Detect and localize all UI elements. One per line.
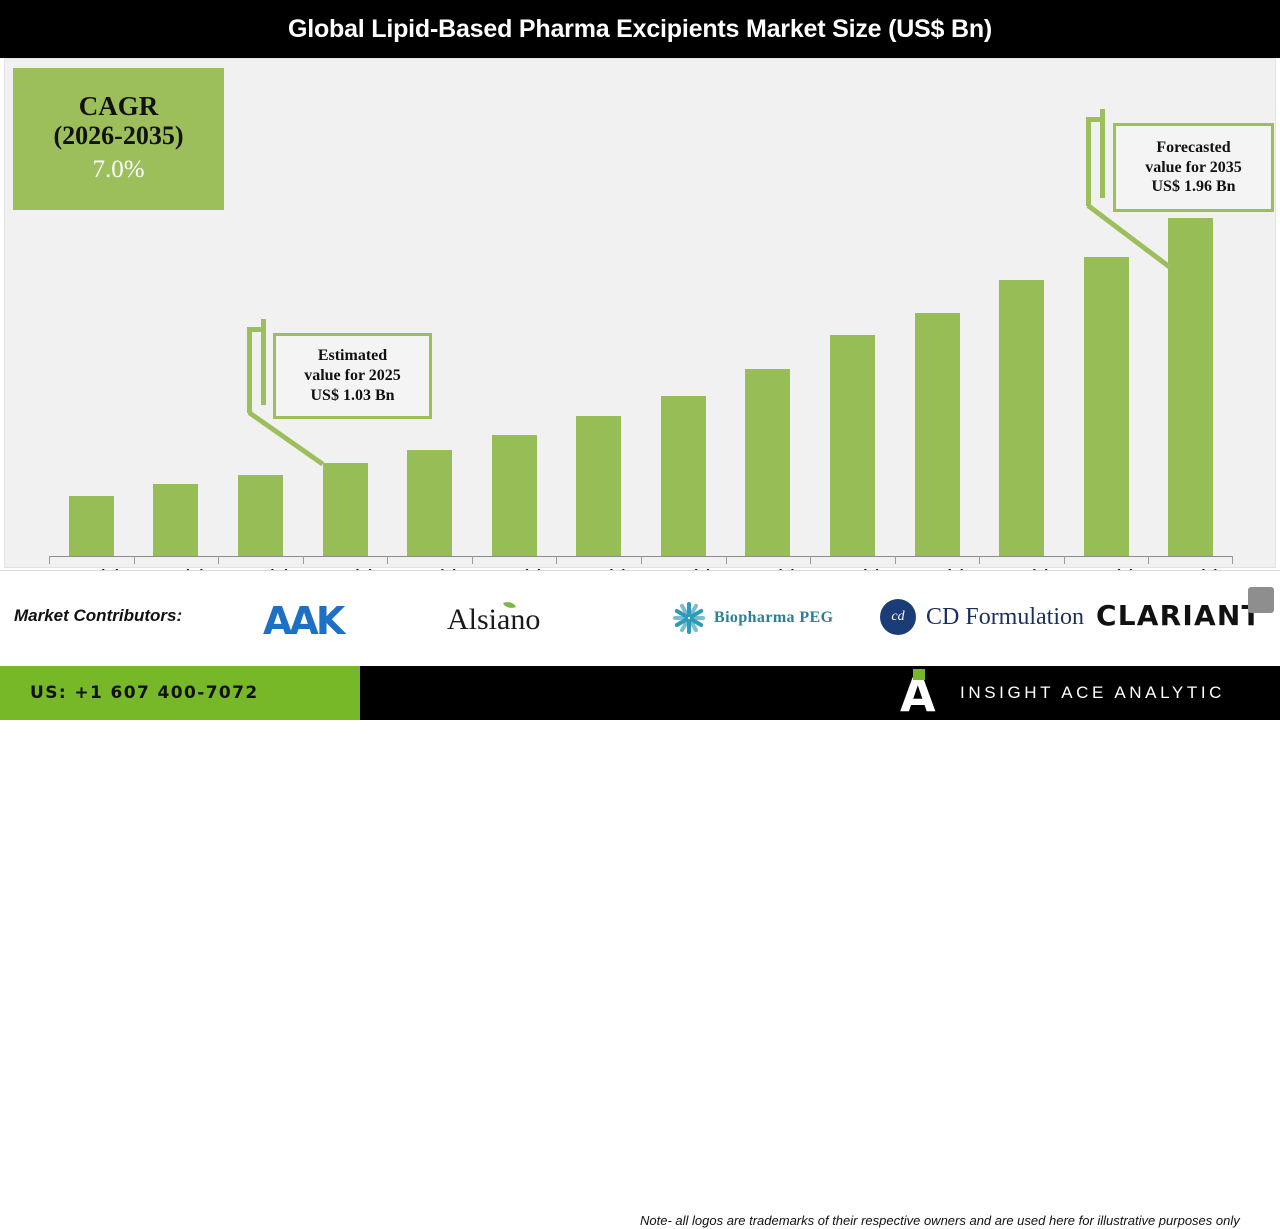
callout-forecasted-2035: Forecasted value for 2035 US$ 1.96 Bn [1113, 123, 1274, 212]
callout-forecasted-line2: value for 2035 [1145, 158, 1242, 178]
square-mark-icon [1248, 587, 1274, 613]
market-contributors-strip: Market Contributors: AAK Alsiano Biophar… [0, 570, 1280, 666]
callout-2025-connector-inner-vertical [261, 319, 266, 405]
bar-2031 [830, 335, 875, 556]
chart-panel: CAGR (2026-2035) 7.0% 2022 (A)2023 (A)20… [4, 58, 1276, 568]
callout-estimated-line3: US$ 1.03 Bn [310, 386, 394, 406]
bar-2027 [492, 435, 537, 556]
logo-aak-text: AAK [263, 599, 342, 643]
callout-2035-connector-inner-vertical [1100, 109, 1105, 198]
bar-2033 [999, 280, 1044, 556]
x-axis-tick [979, 556, 980, 564]
starburst-icon [672, 601, 706, 635]
x-axis-tick [1064, 556, 1065, 564]
callout-forecasted-line3: US$ 1.96 Bn [1151, 177, 1235, 197]
x-axis-tick [218, 556, 219, 564]
callout-2025-connector-outer-vertical [247, 327, 252, 413]
x-axis-tick [810, 556, 811, 564]
callout-estimated-2025: Estimated value for 2025 US$ 1.03 Bn [273, 333, 432, 419]
bar-2032 [915, 313, 960, 556]
bar-2028 [576, 416, 621, 556]
x-axis-tick [303, 556, 304, 564]
logo-cd-formulation: cd CD Formulation [880, 599, 1084, 635]
x-axis-tick [472, 556, 473, 564]
bar-2034 [1084, 257, 1129, 556]
title-bar: Global Lipid-Based Pharma Excipients Mar… [0, 0, 1280, 58]
bar-2022 [69, 496, 114, 556]
callout-2035-connector-outer-vertical [1086, 117, 1091, 206]
contributors-label: Market Contributors: [14, 606, 182, 626]
insight-ace-logo-icon: A [900, 671, 940, 715]
footer-bar: US: +1 607 400-7072 A INSIGHT ACE ANALYT… [0, 666, 1280, 720]
callout-forecasted-line1: Forecasted [1156, 138, 1230, 158]
bar-series [49, 59, 1233, 556]
x-axis-tick [556, 556, 557, 564]
callout-estimated-line1: Estimated [318, 346, 387, 366]
bar-2026 [407, 450, 452, 556]
circle-monogram-icon: cd [880, 599, 916, 635]
footer-phone[interactable]: US: +1 607 400-7072 [30, 683, 259, 703]
x-axis-tick [49, 556, 50, 564]
bar-2030 [745, 369, 790, 556]
logo-clariant-text: CLARIANT [1096, 599, 1262, 632]
brand-name: INSIGHT ACE ANALYTIC [960, 683, 1225, 703]
x-axis-tick [387, 556, 388, 564]
x-axis-tick [134, 556, 135, 564]
x-axis-tick [1148, 556, 1149, 564]
x-axis-tick [726, 556, 727, 564]
brand-lockup: A INSIGHT ACE ANALYTIC [900, 666, 1225, 720]
bar-2029 [661, 396, 706, 556]
x-axis-ticks [49, 556, 1233, 564]
bar-2025 [323, 463, 368, 556]
footer-phone-bar: US: +1 607 400-7072 [0, 666, 360, 720]
bar-2024 [238, 475, 283, 556]
page-title: Global Lipid-Based Pharma Excipients Mar… [288, 15, 992, 44]
x-axis-tick [641, 556, 642, 564]
logo-cd-formulation-text: CD Formulation [926, 604, 1084, 631]
logo-aak: AAK [263, 599, 342, 643]
callout-estimated-line2: value for 2025 [304, 366, 401, 386]
bar-2035 [1168, 218, 1213, 556]
trademark-note: Note- all logos are trademarks of their … [640, 1214, 1272, 1229]
logo-clariant: CLARIANT [1096, 599, 1262, 632]
x-axis-tick [1232, 556, 1233, 564]
logo-biopharma-peg-text: Biopharma PEG [714, 609, 833, 627]
logo-alsiano-text: Alsiano [447, 603, 540, 637]
logo-alsiano: Alsiano [447, 603, 540, 637]
bar-2023 [153, 484, 198, 556]
x-axis-tick [895, 556, 896, 564]
logo-biopharma-peg: Biopharma PEG [672, 601, 833, 635]
